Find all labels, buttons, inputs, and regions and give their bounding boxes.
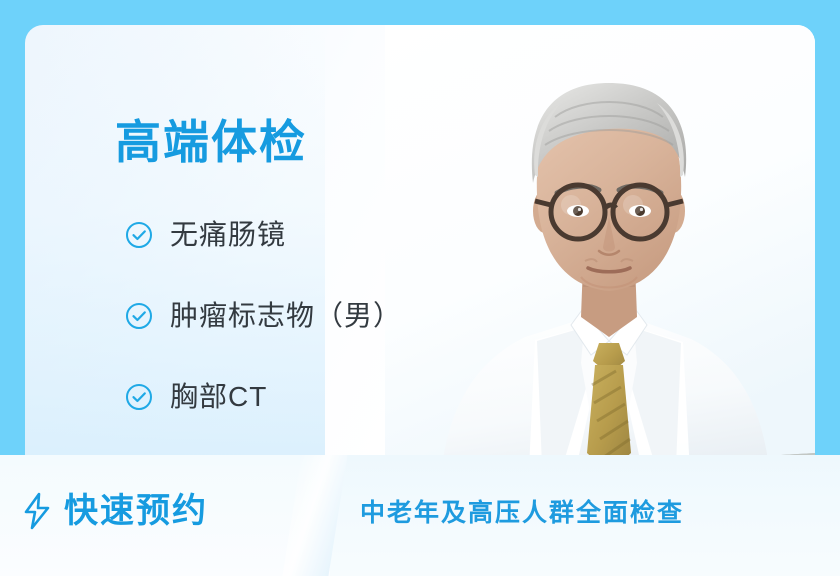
feature-label: 胸部CT — [170, 383, 267, 411]
offer-card: 高端体检 无痛肠镜 肿瘤标志物（男） — [25, 25, 815, 491]
promo-banner: 高端体检 无痛肠镜 肿瘤标志物（男） — [0, 0, 840, 576]
quick-booking-button[interactable]: 快速预约 — [22, 492, 208, 530]
feature-label: 肿瘤标志物（男） — [170, 302, 402, 330]
check-circle-icon — [125, 383, 153, 411]
feature-label: 无痛肠镜 — [170, 221, 286, 249]
check-circle-icon — [125, 302, 153, 330]
check-circle-icon — [125, 221, 153, 249]
list-item: 胸部CT — [125, 377, 545, 417]
page-title: 高端体检 — [115, 119, 307, 165]
bottom-bar-tagline: 中老年及高压人群全面检查 — [360, 501, 684, 526]
quick-booking-label: 快速预约 — [64, 494, 208, 528]
list-item: 无痛肠镜 — [125, 215, 545, 255]
list-item: 肿瘤标志物（男） — [125, 296, 545, 336]
feature-list: 无痛肠镜 肿瘤标志物（男） 胸部CT — [125, 215, 545, 417]
lightning-bolt-icon — [22, 492, 52, 530]
